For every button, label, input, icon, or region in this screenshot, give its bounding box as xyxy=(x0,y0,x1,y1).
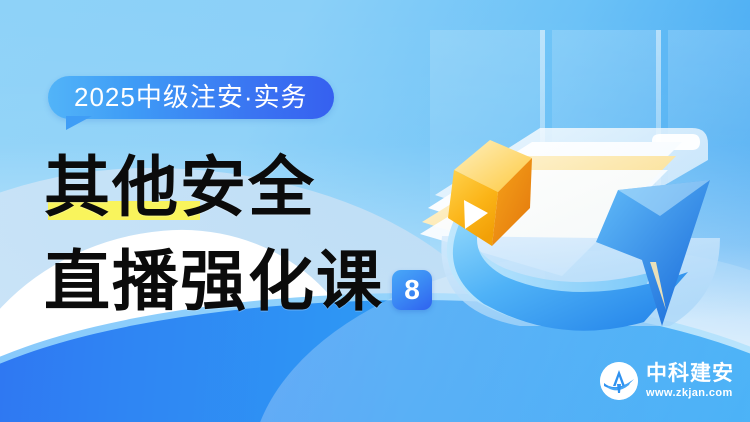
episode-number-badge: 8 xyxy=(392,270,432,310)
course-banner: 2025中级注安·实务 其他安全 直播强化课 8 中科建安 www.zkj xyxy=(0,0,750,422)
illustration xyxy=(420,10,750,350)
subject-badge-label: 2025中级注安·实务 xyxy=(74,82,308,112)
brand-website: www.zkjan.com xyxy=(646,388,734,399)
brand-name: 中科建安 xyxy=(646,363,734,384)
title-line-2-row: 直播强化课 8 xyxy=(44,246,432,318)
page-title: 其他安全 直播强化课 8 xyxy=(44,152,432,318)
title-line-1: 其他安全 xyxy=(44,154,316,224)
subject-badge-tail xyxy=(66,116,92,130)
brand-logo[interactable]: 中科建安 www.zkjan.com xyxy=(600,362,734,400)
title-line-2: 直播强化课 xyxy=(44,248,384,318)
subject-badge: 2025中级注安·实务 xyxy=(48,76,334,119)
title-line-1-row: 其他安全 xyxy=(44,152,432,224)
brand-logo-text: 中科建安 www.zkjan.com xyxy=(646,363,734,399)
zkjan-circle-logo-icon xyxy=(600,362,638,400)
subject-badge-pill: 2025中级注安·实务 xyxy=(48,76,334,119)
